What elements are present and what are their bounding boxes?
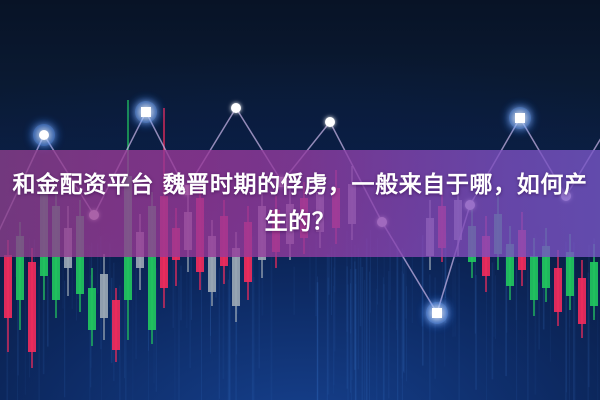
headline-text: 和金配资平台 魏晋时期的俘虏，一般来自于哪，如何产生的？: [6, 167, 594, 241]
headline-banner: 和金配资平台 魏晋时期的俘虏，一般来自于哪，如何产生的？: [0, 150, 600, 257]
banner-image: 和金配资平台 魏晋时期的俘虏，一般来自于哪，如何产生的？: [0, 0, 600, 400]
